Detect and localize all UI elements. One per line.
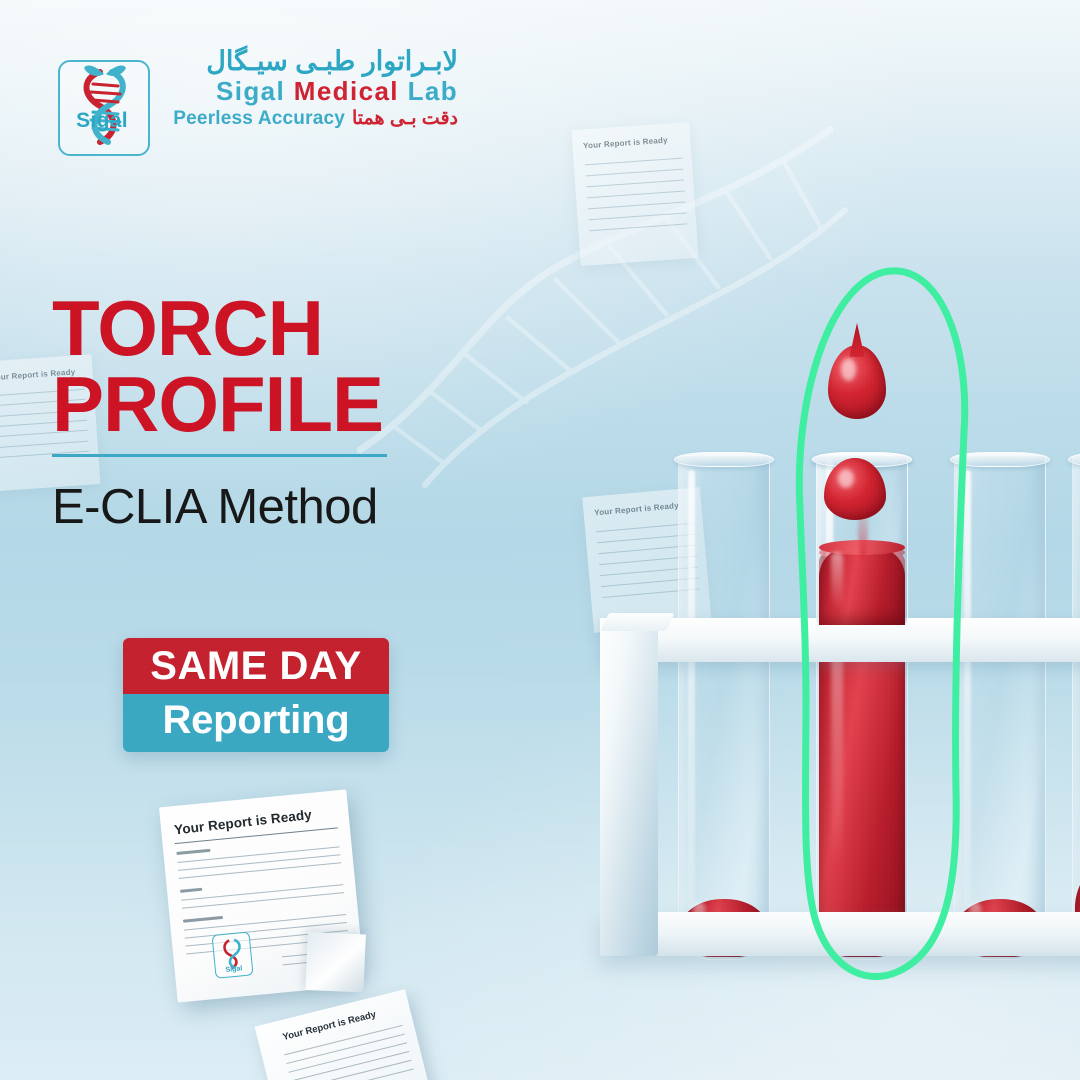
rack-left-panel-top bbox=[600, 613, 675, 631]
brand-name-farsi-text: لابـراتوار طبـی سیـگال bbox=[206, 46, 458, 76]
falling-blood-drop-upper bbox=[828, 345, 886, 419]
headline-block: TORCH PROFILE E-CLIA Method bbox=[52, 290, 522, 533]
brand-name-sigal: Sigal bbox=[216, 76, 285, 106]
brand-name-english: Sigal Medical Lab bbox=[153, 76, 458, 106]
brand-name-farsi: لابـراتوار طبـی سیـگال bbox=[153, 46, 458, 76]
background-report-title: Your Report is Ready bbox=[583, 135, 681, 151]
tagline-farsi: دقت بـی همتا bbox=[352, 106, 458, 132]
rack-lower-base bbox=[600, 912, 1080, 956]
brand-wordmark: لابـراتوار طبـی سیـگال Sigal Medical Lab… bbox=[153, 46, 458, 132]
brand-logo[interactable]: Sigal لابـراتوار طبـی سیـگال Sigal Medic… bbox=[58, 46, 458, 164]
page-title-line1: TORCH bbox=[52, 290, 522, 366]
page-subtitle: E-CLIA Method bbox=[52, 481, 522, 533]
badge-bottom-label: Reporting bbox=[123, 694, 389, 752]
poster-canvas: Your Report is Ready Your Report is Read… bbox=[0, 0, 1080, 1080]
brand-tagline: Peerless Accuracy دقت بـی همتا bbox=[153, 106, 458, 132]
list-item bbox=[954, 455, 1046, 960]
background-report-sheet-top: Your Report is Ready bbox=[571, 122, 698, 266]
report-logo-icon: Sigal bbox=[212, 931, 254, 978]
tagline-english: Peerless Accuracy bbox=[173, 106, 345, 132]
report-sheet-mini: Your Report is Ready bbox=[255, 989, 437, 1080]
list-item bbox=[678, 455, 770, 960]
list-item bbox=[1072, 455, 1080, 960]
page-title-line2: PROFILE bbox=[52, 366, 522, 442]
badge-top-label: SAME DAY bbox=[123, 638, 389, 694]
dna-helix-leaf-icon bbox=[58, 60, 150, 156]
test-tube-rack-scene bbox=[560, 250, 1080, 1080]
report-sheet: Your Report is Ready Sigal bbox=[159, 789, 365, 1002]
brand-name-medical: Medical bbox=[294, 76, 399, 106]
headline-divider bbox=[52, 454, 387, 457]
logo-mark-caption: Sigal bbox=[58, 109, 146, 133]
same-day-reporting-badge[interactable]: SAME DAY Reporting bbox=[123, 638, 389, 752]
rack-left-panel bbox=[600, 618, 658, 956]
brand-name-lab: Lab bbox=[408, 76, 458, 106]
falling-blood-drop-lower bbox=[824, 458, 886, 520]
